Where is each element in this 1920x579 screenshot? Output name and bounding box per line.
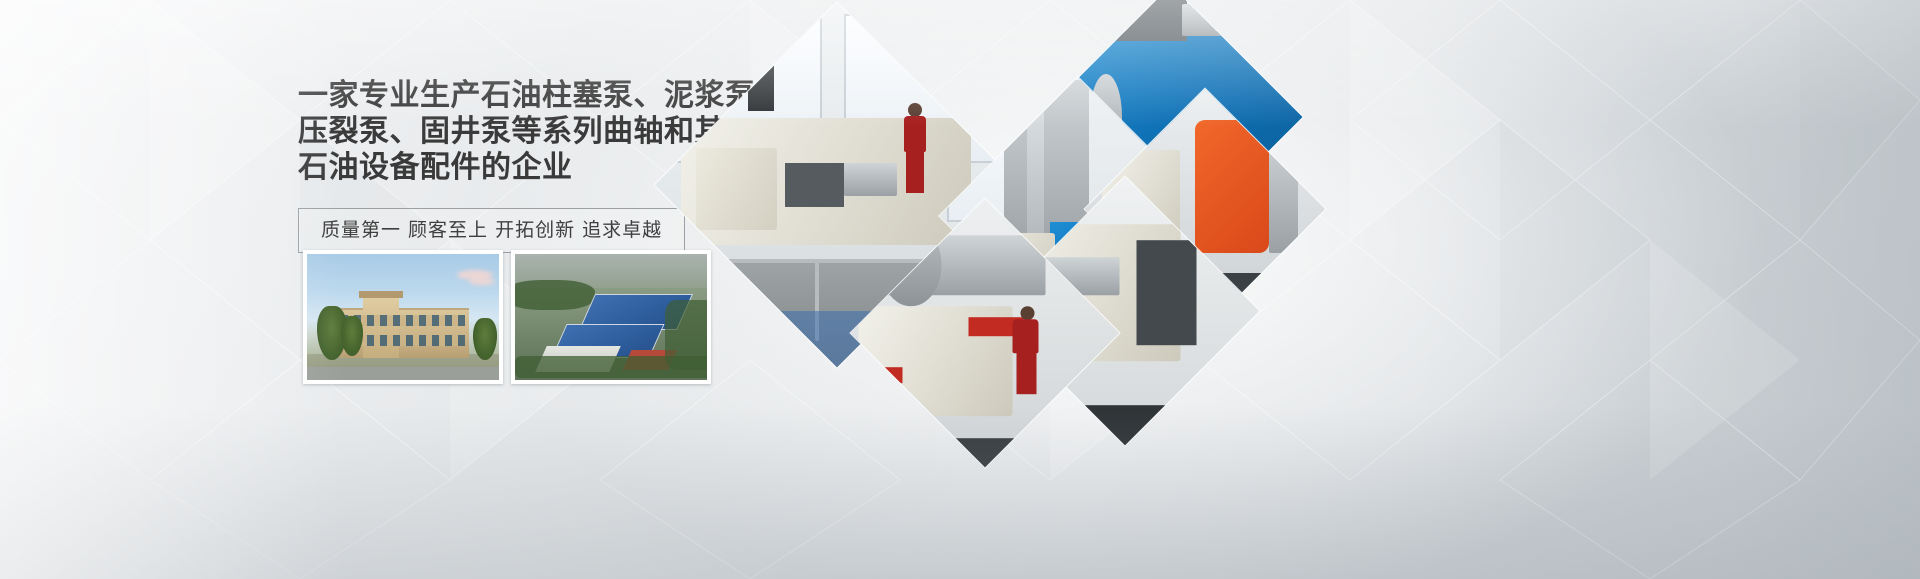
hero-copy-block: 一家专业生产石油柱塞泵、泥浆泵、 压裂泵、固井泵等系列曲轴和其他 石油设备配件的… <box>298 78 718 253</box>
headline-line-2: 压裂泵、固井泵等系列曲轴和其他 <box>298 114 718 150</box>
slogan-box: 质量第一 顾客至上 开拓创新 追求卓越 <box>298 208 685 253</box>
factory-aerial-photo <box>515 254 707 380</box>
slogan-text: 质量第一 顾客至上 开拓创新 追求卓越 <box>321 219 662 241</box>
diamond-photo-collage <box>690 38 1310 408</box>
thumbnail-office-building[interactable] <box>303 250 503 384</box>
company-hero-banner: 一家专业生产石油柱塞泵、泥浆泵、 压裂泵、固井泵等系列曲轴和其他 石油设备配件的… <box>0 0 1920 579</box>
thumbnail-factory-aerial[interactable] <box>511 250 711 384</box>
page-title: 一家专业生产石油柱塞泵、泥浆泵、 压裂泵、固井泵等系列曲轴和其他 石油设备配件的… <box>298 78 718 186</box>
thumbnail-gallery <box>303 250 711 384</box>
office-building-photo <box>307 254 499 380</box>
headline-line-3: 石油设备配件的企业 <box>298 150 718 186</box>
headline-line-1: 一家专业生产石油柱塞泵、泥浆泵、 <box>298 78 718 114</box>
